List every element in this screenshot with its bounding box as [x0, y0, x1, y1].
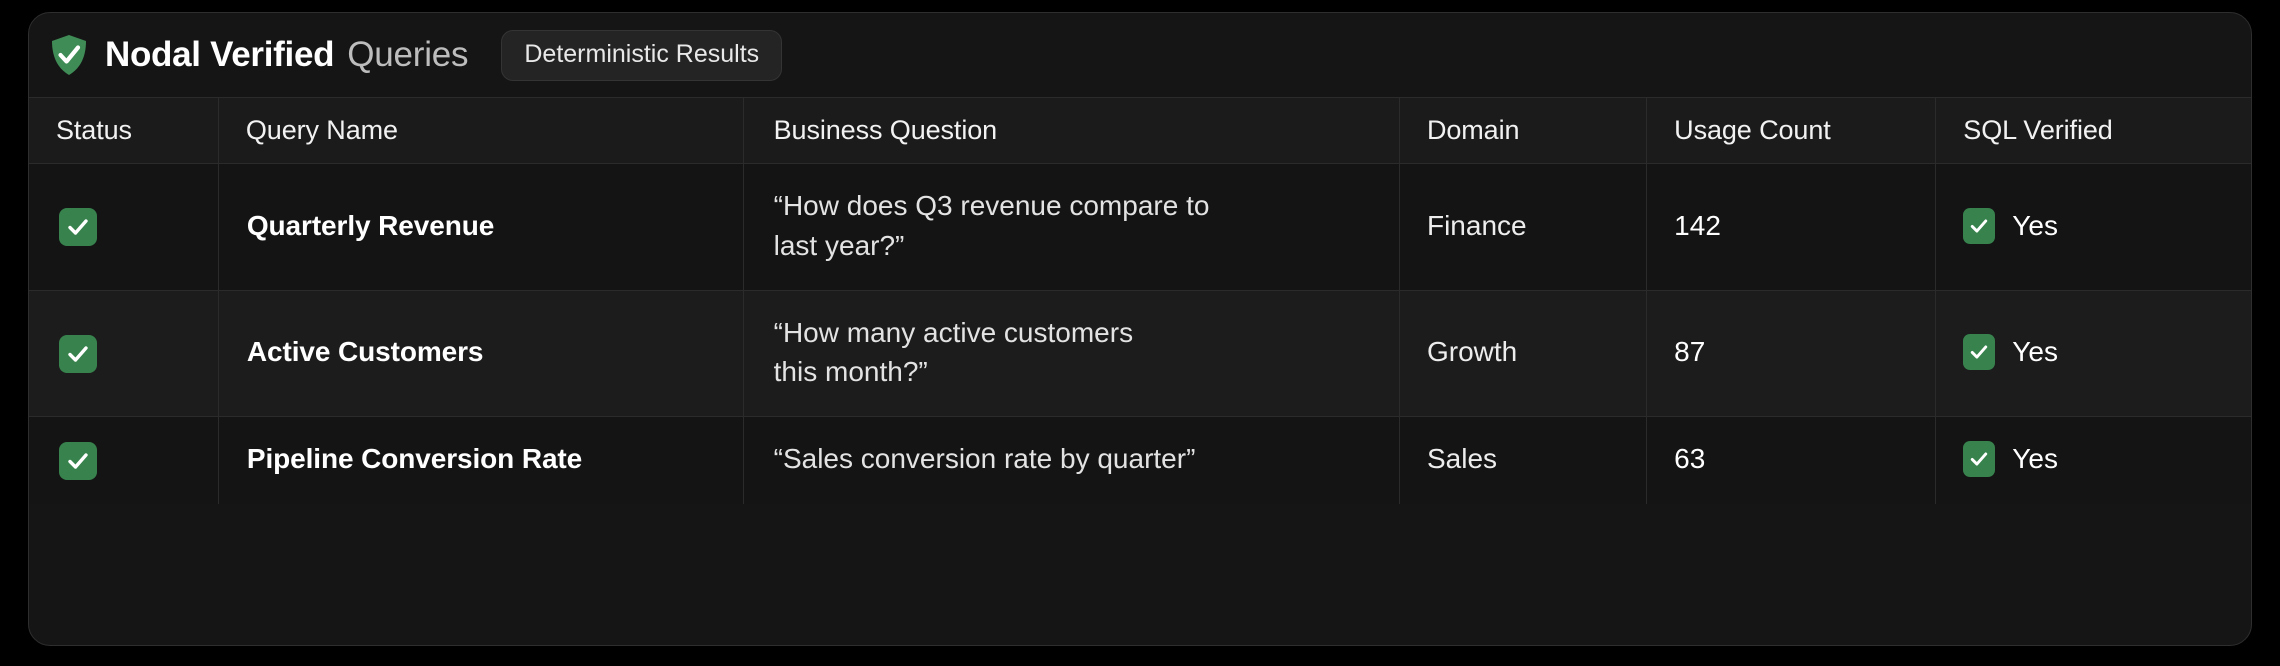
- cell-sql-verified: Yes: [1936, 164, 2251, 291]
- table-body: Quarterly Revenue “How does Q3 revenue c…: [29, 164, 2251, 504]
- cell-domain: Sales: [1399, 417, 1646, 504]
- checkbox-checked-icon[interactable]: [59, 335, 97, 373]
- sql-verified-label: Yes: [2012, 332, 2058, 372]
- cell-domain: Finance: [1399, 164, 1646, 291]
- status-badge: Deterministic Results: [501, 30, 782, 81]
- table-row[interactable]: Active Customers “How many active custom…: [29, 290, 2251, 417]
- cell-usage-count: 142: [1647, 164, 1936, 291]
- column-header-usage-count[interactable]: Usage Count: [1647, 98, 1936, 164]
- question-line-1: “How does Q3 revenue compare to: [774, 186, 1373, 226]
- cell-business-question: “How does Q3 revenue compare to last yea…: [743, 164, 1399, 291]
- page-title: Nodal Verified Queries: [105, 35, 468, 75]
- question-line-1: “Sales conversion rate by quarter”: [774, 439, 1373, 479]
- question-line-2: this month?”: [774, 352, 1373, 392]
- cell-sql-verified: Yes: [1936, 417, 2251, 504]
- cell-sql-verified: Yes: [1936, 290, 2251, 417]
- title-strong: Nodal Verified: [105, 35, 334, 75]
- column-header-status[interactable]: Status: [29, 98, 218, 164]
- checkbox-checked-icon[interactable]: [1963, 334, 1995, 370]
- cell-usage-count: 63: [1647, 417, 1936, 504]
- verified-queries-table: Status Query Name Business Question Doma…: [29, 97, 2251, 504]
- table-header-row: Status Query Name Business Question Doma…: [29, 98, 2251, 164]
- shield-check-icon: [49, 34, 89, 76]
- nodal-verified-queries-card: Nodal Verified Queries Deterministic Res…: [28, 12, 2252, 646]
- cell-query-name: Pipeline Conversion Rate: [218, 417, 743, 504]
- checkbox-checked-icon[interactable]: [59, 208, 97, 246]
- cell-business-question: “How many active customers this month?”: [743, 290, 1399, 417]
- checkbox-checked-icon[interactable]: [59, 442, 97, 480]
- cell-business-question: “Sales conversion rate by quarter”: [743, 417, 1399, 504]
- cell-status: [29, 417, 218, 504]
- column-header-sql-verified[interactable]: SQL Verified: [1936, 98, 2251, 164]
- sql-verified-label: Yes: [2012, 206, 2058, 246]
- table-row[interactable]: Pipeline Conversion Rate “Sales conversi…: [29, 417, 2251, 504]
- checkbox-checked-icon[interactable]: [1963, 208, 1995, 244]
- cell-status: [29, 164, 218, 291]
- cell-usage-count: 87: [1647, 290, 1936, 417]
- title-light: Queries: [347, 35, 468, 75]
- column-header-business-question[interactable]: Business Question: [743, 98, 1399, 164]
- card-header: Nodal Verified Queries Deterministic Res…: [29, 13, 2251, 97]
- sql-verified-label: Yes: [2012, 439, 2058, 479]
- checkbox-checked-icon[interactable]: [1963, 441, 1995, 477]
- column-header-query-name[interactable]: Query Name: [218, 98, 743, 164]
- column-header-domain[interactable]: Domain: [1399, 98, 1646, 164]
- cell-domain: Growth: [1399, 290, 1646, 417]
- question-line-1: “How many active customers: [774, 313, 1373, 353]
- cell-query-name: Quarterly Revenue: [218, 164, 743, 291]
- question-line-2: last year?”: [774, 226, 1373, 266]
- table-row[interactable]: Quarterly Revenue “How does Q3 revenue c…: [29, 164, 2251, 291]
- cell-query-name: Active Customers: [218, 290, 743, 417]
- cell-status: [29, 290, 218, 417]
